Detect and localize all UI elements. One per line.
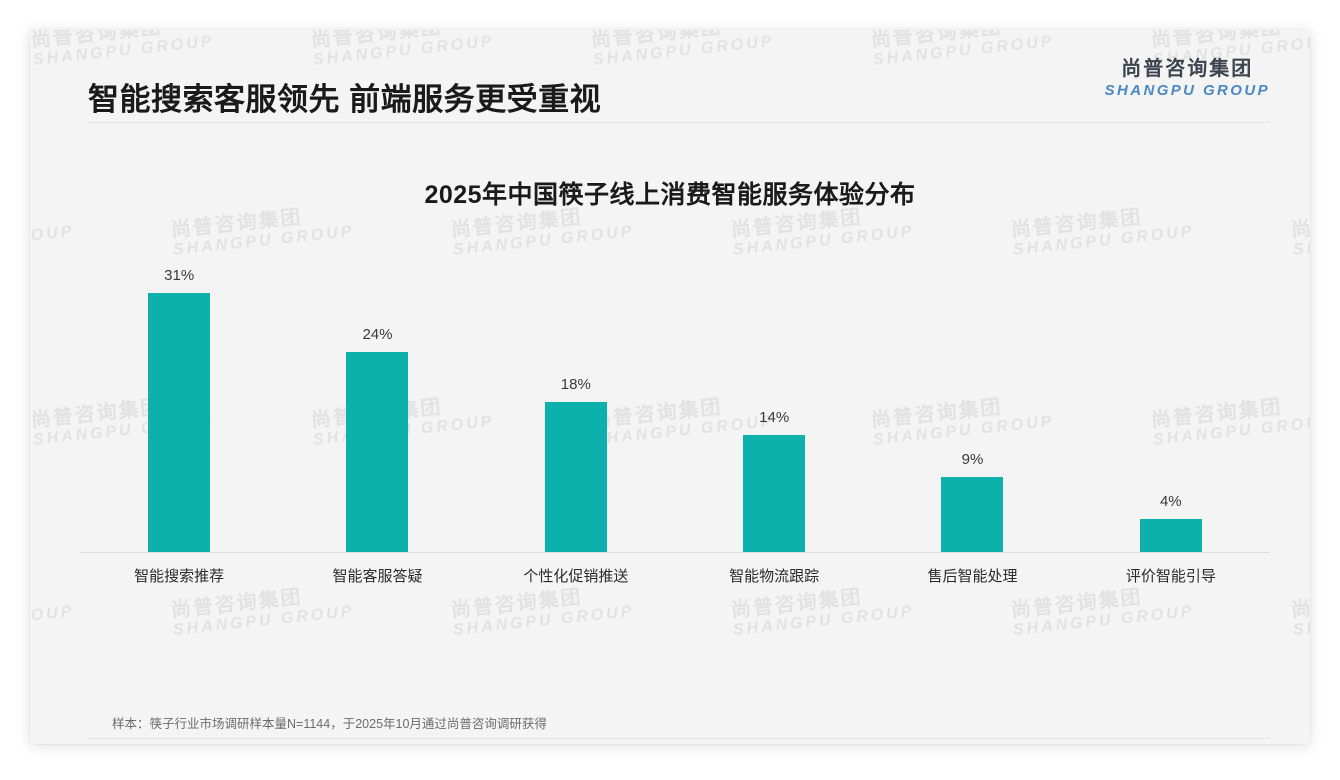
brand-name-en: SHANGPU GROUP [1105,82,1270,100]
bar-group: 4% [1072,260,1270,552]
slide-header: 智能搜索客服领先 前端服务更受重视 尚普咨询集团 SHANGPU GROUP [30,30,1310,123]
bar-value-label: 18% [561,376,591,393]
bar-value-label: 24% [362,326,392,343]
chart-bar[interactable] [346,352,408,552]
x-axis-category-label: 评价智能引导 [1072,565,1270,586]
x-axis-category-label: 个性化促销推送 [477,565,675,586]
bar-value-label: 9% [962,451,984,468]
bar-value-label: 14% [759,409,789,426]
chart-bar[interactable] [148,293,210,552]
brand-logo: 尚普咨询集团 SHANGPU GROUP [1105,58,1270,99]
brand-name-cn: 尚普咨询集团 [1105,58,1270,82]
slide-card: 尚普咨询集团SHANGPU GROUP尚普咨询集团SHANGPU GROUP尚普… [30,30,1310,744]
bar-chart: 2025年中国筷子线上消费智能服务体验分布 31%24%18%14%9%4% 智… [30,30,1310,744]
page-title: 智能搜索客服领先 前端服务更受重视 [88,74,601,119]
bar-group: 9% [873,260,1071,552]
bar-group: 31% [80,260,278,552]
x-axis-category-label: 智能物流跟踪 [675,565,873,586]
chart-bar[interactable] [545,402,607,552]
chart-bar[interactable] [1140,519,1202,552]
chart-bar[interactable] [743,435,805,552]
sample-footnote: 样本：筷子行业市场调研样本量N=1144，于2025年10月通过尚普咨询调研获得 [112,713,547,732]
chart-title: 2025年中国筷子线上消费智能服务体验分布 [30,175,1310,211]
bar-value-label: 31% [164,267,194,284]
bar-group: 14% [675,260,873,552]
slide-footer: ©2025.12 SHANGPU GROUP www.shangpu-china… [30,739,1310,744]
x-axis-category-label: 智能客服答疑 [278,565,476,586]
header-divider [88,122,1270,123]
chart-bar[interactable] [941,477,1003,552]
x-axis-line [80,552,1270,553]
bar-value-label: 4% [1160,493,1182,510]
x-axis-category-label: 售后智能处理 [873,565,1071,586]
x-axis-category-label: 智能搜索推荐 [80,565,278,586]
bar-group: 18% [477,260,675,552]
bar-group: 24% [278,260,476,552]
chart-plot-area: 31%24%18%14%9%4% [80,260,1270,552]
